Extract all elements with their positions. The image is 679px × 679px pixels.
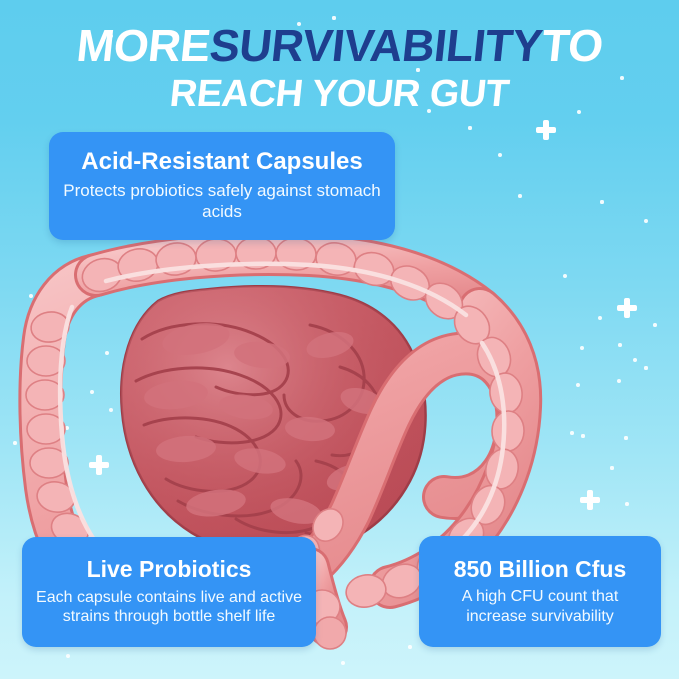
background-speck <box>580 346 585 351</box>
card-title: Live Probiotics <box>87 557 252 583</box>
background-speck <box>644 366 647 369</box>
card-body: A high CFU count that increase survivabi… <box>433 587 647 626</box>
background-speck <box>600 200 603 203</box>
background-speck <box>633 358 637 362</box>
background-speck <box>66 654 70 658</box>
headline-word-to: TO <box>539 22 605 70</box>
headline-word-more: MORE <box>74 22 212 70</box>
background-speck <box>644 219 648 223</box>
callout-card-live-probiotics[interactable]: Live Probiotics Each capsule contains li… <box>22 537 316 647</box>
background-speck <box>625 502 629 506</box>
background-speck <box>576 383 581 388</box>
headline-word-survivability: SURVIVABILITY <box>207 22 544 70</box>
plus-icon <box>536 120 556 140</box>
background-speck <box>617 379 621 383</box>
background-speck <box>618 343 622 347</box>
page-title: MORE SURVIVABILITY TO REACH YOUR GUT <box>0 22 679 114</box>
background-speck <box>624 436 627 439</box>
headline-line-1: MORE SURVIVABILITY TO <box>0 22 679 70</box>
card-title: 850 Billion Cfus <box>454 557 627 583</box>
background-speck <box>563 274 567 278</box>
plus-icon <box>617 298 637 318</box>
background-speck <box>581 434 584 437</box>
background-speck <box>341 661 345 665</box>
callout-card-acid-resistant-capsules[interactable]: Acid-Resistant Capsules Protects probiot… <box>49 132 395 240</box>
callout-card-850-billion-cfus[interactable]: 850 Billion Cfus A high CFU count that i… <box>419 536 661 647</box>
background-speck <box>570 431 574 435</box>
background-speck <box>653 323 657 327</box>
background-speck <box>610 466 613 469</box>
card-title: Acid-Resistant Capsules <box>81 149 362 176</box>
headline-reach-your-gut: REACH YOUR GUT <box>168 74 511 114</box>
background-speck <box>518 194 522 198</box>
headline-line-2: REACH YOUR GUT <box>0 74 679 114</box>
infographic-poster: MORE SURVIVABILITY TO REACH YOUR GUT <box>0 0 679 679</box>
card-body: Each capsule contains live and active st… <box>36 588 302 627</box>
background-speck <box>598 316 602 320</box>
plus-icon <box>580 490 600 510</box>
background-speck <box>498 153 502 157</box>
background-speck <box>468 126 471 129</box>
card-body: Protects probiotics safely against stoma… <box>63 181 381 222</box>
background-speck <box>408 645 412 649</box>
